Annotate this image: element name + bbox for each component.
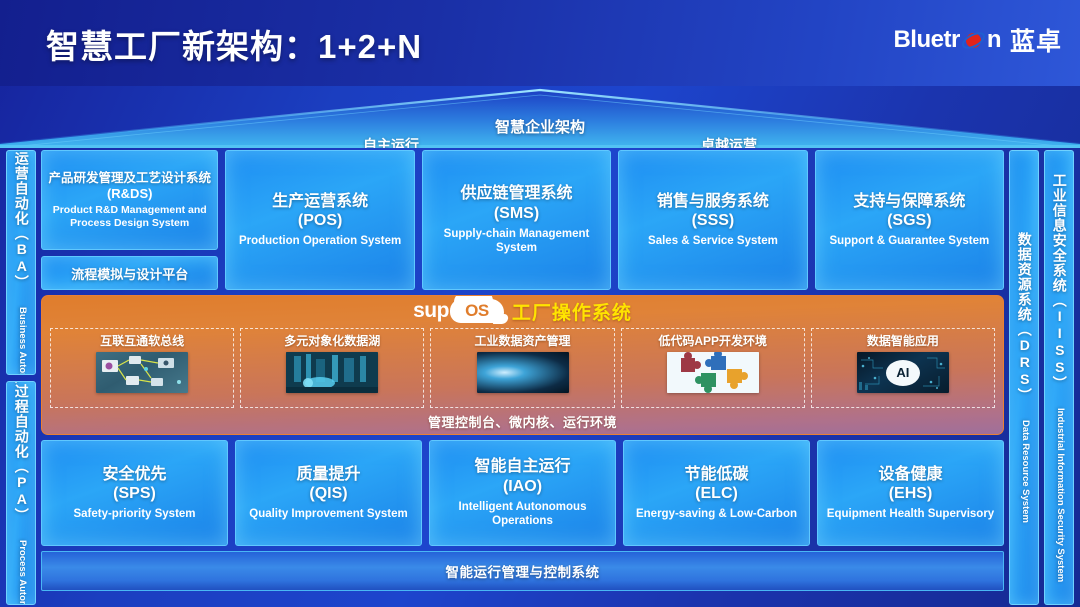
- left-column-pa-cn: 生产过程自动化（PA）: [14, 381, 30, 523]
- card-sgs-abbr: (SGS): [887, 211, 931, 232]
- left-axis-column: 企业运营自动化（BA） Business Automation 生产过程自动化（…: [6, 150, 36, 605]
- left-column-pa-text: 生产过程自动化（PA） Process Automation: [12, 381, 30, 606]
- page-title: 智慧工厂新架构：1+2+N: [46, 20, 422, 68]
- supos-title-cn: 工厂操作系统: [512, 298, 632, 325]
- bottom-bar[interactable]: 智能运行管理与控制系统: [41, 551, 1004, 591]
- right-column-data-resource[interactable]: 数据资源系统（DRS） Data Resource System: [1009, 150, 1039, 605]
- ai-brain-image: AI: [857, 352, 949, 393]
- right-column-drs-en: Data Resource System: [1020, 420, 1031, 523]
- card-pos-abbr: (POS): [298, 211, 342, 232]
- business-automation-row: 产品研发管理及工艺设计系统 (R&DS) Product R&D Managem…: [41, 150, 1004, 290]
- card-ehs[interactable]: 设备健康 (EHS) Equipment Health Supervisory: [817, 440, 1004, 546]
- card-ehs-en: Equipment Health Supervisory: [827, 507, 994, 521]
- data-tunnel-image: [477, 352, 569, 393]
- card-sms-abbr: (SMS): [494, 204, 539, 225]
- supos-tile-ai-label: 数据智能应用: [867, 332, 939, 349]
- right-column-iiss-text: 工业信息安全系统（IISS） Industrial Information Se…: [1050, 173, 1068, 582]
- orbit-icon: [961, 30, 986, 51]
- card-iao-abbr: (IAO): [503, 477, 542, 498]
- left-column-process-automation[interactable]: 生产过程自动化（PA） Process Automation: [6, 381, 36, 606]
- roof-banner: 智慧企业架构 自主运行 卓越运营: [0, 86, 1080, 148]
- supos-logo-os: OS: [450, 299, 504, 323]
- supos-tile-asset-label: 工业数据资产管理: [475, 332, 571, 349]
- card-sss-en: Sales & Service System: [648, 234, 778, 248]
- card-sms-en: Supply-chain Management System: [428, 227, 605, 256]
- card-sps[interactable]: 安全优先 (SPS) Safety-priority System: [41, 440, 228, 546]
- left-column-ba-cn: 企业运营自动化（BA）: [14, 150, 30, 290]
- card-sgs[interactable]: 支持与保障系统 (SGS) Support & Guarantee System: [815, 150, 1004, 290]
- card-qis-cn: 质量提升: [296, 465, 360, 485]
- architecture-diagram: 企业运营自动化（BA） Business Automation 生产过程自动化（…: [0, 146, 1080, 607]
- card-sgs-en: Support & Guarantee System: [829, 234, 989, 248]
- industrial-equipment-graphic: [286, 352, 378, 393]
- supos-tile-datalake-label: 多元对象化数据湖: [284, 332, 380, 349]
- card-elc[interactable]: 节能低碳 (ELC) Energy-saving & Low-Carbon: [623, 440, 810, 546]
- card-sms-cn: 供应链管理系统: [461, 184, 573, 204]
- supos-tile-softbus[interactable]: 互联互通软总线: [50, 328, 234, 408]
- page-header: 智慧工厂新架构：1+2+N Bluetr n 蓝卓: [0, 0, 1080, 86]
- brand-logo-text-tail: n: [987, 26, 1001, 54]
- process-automation-row: 安全优先 (SPS) Safety-priority System 质量提升 (…: [41, 440, 1004, 546]
- card-elc-cn: 节能低碳: [684, 465, 748, 485]
- supos-tile-lowcode-label: 低代码APP开发环境: [658, 332, 767, 349]
- cloud-icon: OS: [450, 299, 504, 323]
- network-topology-graphic: [96, 352, 188, 393]
- supos-tile-lowcode[interactable]: 低代码APP开发环境: [621, 328, 805, 408]
- card-iao-cn: 智能自主运行: [474, 457, 570, 477]
- card-pos[interactable]: 生产运营系统 (POS) Production Operation System: [225, 150, 414, 290]
- card-qis-abbr: (QIS): [309, 484, 347, 505]
- right-column-drs-text: 数据资源系统（DRS） Data Resource System: [1015, 232, 1033, 523]
- brand-logo-english: Bluetr n: [893, 26, 1001, 54]
- roof-center-label: 智慧企业架构: [495, 116, 585, 137]
- right-column-iiss-en: Industrial Information Security System: [1055, 408, 1066, 582]
- card-pos-en: Production Operation System: [239, 234, 401, 248]
- brand-logo: Bluetr n 蓝卓: [893, 22, 1062, 58]
- card-sss[interactable]: 销售与服务系统 (SSS) Sales & Service System: [618, 150, 807, 290]
- card-ehs-abbr: (EHS): [889, 484, 933, 505]
- industrial-equipment-image: [286, 352, 378, 393]
- card-simulation-platform[interactable]: 流程模拟与设计平台: [41, 256, 218, 290]
- card-sps-en: Safety-priority System: [73, 507, 195, 521]
- left-column-ba-en: Business Automation: [17, 307, 28, 375]
- ai-badge: AI: [886, 360, 920, 386]
- supos-tile-asset[interactable]: 工业数据资产管理: [430, 328, 614, 408]
- right-column-security[interactable]: 工业信息安全系统（IISS） Industrial Information Se…: [1044, 150, 1074, 605]
- card-rds-en: Product R&D Management and Process Desig…: [46, 204, 213, 229]
- left-column-pa-en: Process Automation: [17, 540, 28, 605]
- puzzle-pieces-image: [667, 352, 759, 393]
- card-iao-en: Intelligent Autonomous Operations: [435, 500, 610, 529]
- brand-logo-text-head: Bluetr: [893, 26, 959, 54]
- right-axis-column: 数据资源系统（DRS） Data Resource System: [1009, 150, 1039, 605]
- card-elc-abbr: (ELC): [695, 484, 738, 505]
- card-sss-cn: 销售与服务系统: [657, 192, 769, 212]
- puzzle-pieces-graphic: [667, 352, 759, 393]
- right-column-drs-cn: 数据资源系统（DRS）: [1017, 232, 1033, 403]
- supos-tile-datalake[interactable]: 多元对象化数据湖: [240, 328, 424, 408]
- supos-logo: sup OS: [413, 299, 504, 323]
- left-column-ba-text: 企业运营自动化（BA） Business Automation: [12, 150, 30, 375]
- card-sps-abbr: (SPS): [113, 484, 156, 505]
- supos-logo-text: sup: [413, 299, 449, 323]
- card-rds-abbr: (R&DS): [107, 186, 153, 203]
- supos-header: sup OS 工厂操作系统: [42, 296, 1003, 326]
- card-pos-cn: 生产运营系统: [272, 192, 368, 212]
- orbit-ring-shape: [959, 28, 987, 51]
- center-stack: 产品研发管理及工艺设计系统 (R&DS) Product R&D Managem…: [41, 150, 1004, 605]
- card-sms[interactable]: 供应链管理系统 (SMS) Supply-chain Management Sy…: [422, 150, 611, 290]
- card-sgs-cn: 支持与保障系统: [853, 192, 965, 212]
- card-rds-group: 产品研发管理及工艺设计系统 (R&DS) Product R&D Managem…: [41, 150, 218, 290]
- supos-panel: sup OS 工厂操作系统 互联互通软总线: [41, 295, 1004, 435]
- supos-footer-label: 管理控制台、微内核、运行环境: [42, 408, 1003, 434]
- right-column-iiss-cn: 工业信息安全系统（IISS）: [1052, 173, 1068, 391]
- card-qis-en: Quality Improvement System: [249, 507, 408, 521]
- card-elc-en: Energy-saving & Low-Carbon: [636, 507, 797, 521]
- card-iao[interactable]: 智能自主运行 (IAO) Intelligent Autonomous Oper…: [429, 440, 616, 546]
- card-qis[interactable]: 质量提升 (QIS) Quality Improvement System: [235, 440, 422, 546]
- network-topology-image: [96, 352, 188, 393]
- right-axis-column-2: 工业信息安全系统（IISS） Industrial Information Se…: [1044, 150, 1074, 605]
- card-ehs-cn: 设备健康: [878, 465, 942, 485]
- supos-tile-ai[interactable]: 数据智能应用: [811, 328, 995, 408]
- card-rds-cn: 产品研发管理及工艺设计系统: [48, 171, 211, 187]
- supos-tile-softbus-label: 互联互通软总线: [100, 332, 184, 349]
- card-sps-cn: 安全优先: [102, 465, 166, 485]
- card-rds[interactable]: 产品研发管理及工艺设计系统 (R&DS) Product R&D Managem…: [41, 150, 218, 250]
- left-column-business-automation[interactable]: 企业运营自动化（BA） Business Automation: [6, 150, 36, 375]
- supos-tiles: 互联互通软总线: [42, 326, 1003, 408]
- card-sss-abbr: (SSS): [692, 211, 735, 232]
- brand-logo-chinese: 蓝卓: [1010, 22, 1062, 58]
